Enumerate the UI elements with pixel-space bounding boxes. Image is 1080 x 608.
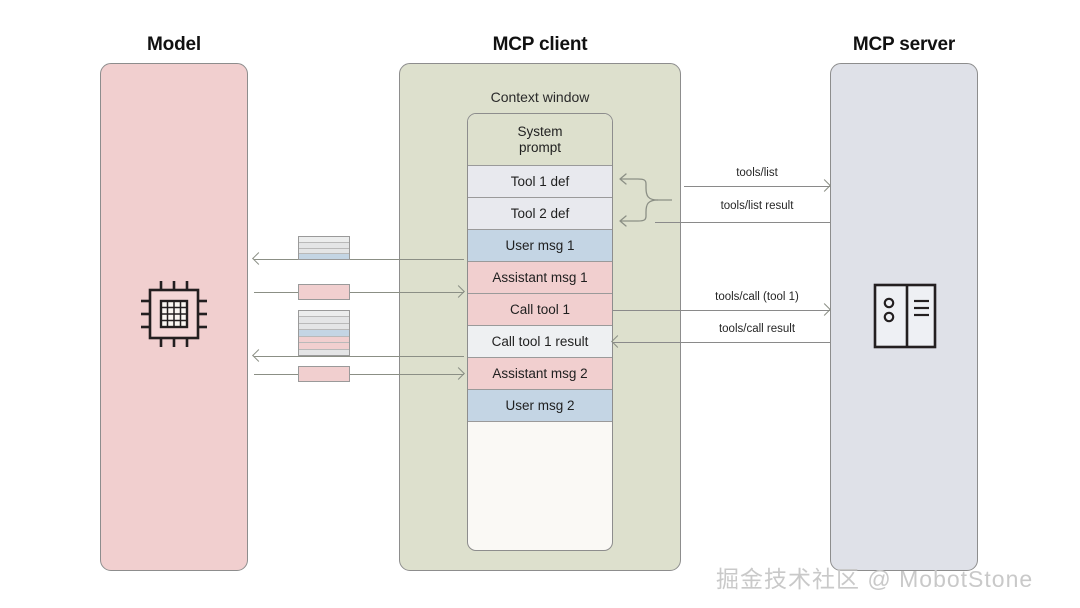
watermark: 掘金技术社区 @ MobotStone	[716, 560, 1033, 594]
arrowhead-tools-call	[820, 305, 831, 316]
column-title-server: MCP server	[830, 34, 978, 56]
connector-tools-call-line	[613, 310, 830, 311]
arrowhead-model-response-1	[454, 287, 465, 298]
connector-model-request-1-line	[254, 259, 464, 260]
token-stack-response-2	[298, 366, 350, 382]
connector-fork-tool-defs	[612, 170, 672, 230]
token-stack-request-2	[298, 310, 350, 356]
arrowhead-tools-list	[820, 181, 831, 192]
column-title-client: MCP client	[399, 34, 681, 56]
label-tools-call: tools/call (tool 1)	[684, 291, 830, 303]
context-row-call-tool-1-result: Call tool 1 result	[468, 326, 612, 358]
arrowhead-model-response-2	[454, 369, 465, 380]
label-tools-call-result: tools/call result	[684, 323, 830, 335]
connector-tools-list-result-line	[655, 222, 830, 223]
cpu-chip-icon	[133, 268, 215, 360]
arrowhead-tools-call-result	[613, 337, 624, 348]
token-stack-response-1	[298, 284, 350, 300]
connector-model-response-2-line	[254, 374, 464, 375]
arrowhead-model-request-2	[254, 351, 265, 362]
column-title-model: Model	[100, 34, 248, 56]
connector-model-response-1-line	[254, 292, 464, 293]
context-row-tool-2-def: Tool 2 def	[468, 198, 612, 230]
connector-model-request-2-line	[254, 356, 464, 357]
context-row-assistant-msg-1: Assistant msg 1	[468, 262, 612, 294]
token-stack-request-1	[298, 236, 350, 260]
label-tools-list: tools/list	[684, 167, 830, 179]
context-row-assistant-msg-2: Assistant msg 2	[468, 358, 612, 390]
label-tools-list-result: tools/list result	[684, 200, 830, 212]
arrowhead-model-request-1	[254, 254, 265, 265]
context-row-tool-1-def: Tool 1 def	[468, 166, 612, 198]
context-window-box: System prompt Tool 1 def Tool 2 def User…	[467, 113, 613, 551]
diagram-canvas: Model MCP client MCP server	[0, 0, 1080, 608]
context-row-system-prompt: System prompt	[468, 114, 612, 166]
server-rack-icon	[869, 276, 941, 356]
context-row-user-msg-2: User msg 2	[468, 390, 612, 422]
context-window-label: Context window	[399, 89, 681, 105]
context-row-user-msg-1: User msg 1	[468, 230, 612, 262]
connector-tools-call-result-line	[613, 342, 830, 343]
connector-tools-list-line	[684, 186, 830, 187]
context-row-call-tool-1: Call tool 1	[468, 294, 612, 326]
